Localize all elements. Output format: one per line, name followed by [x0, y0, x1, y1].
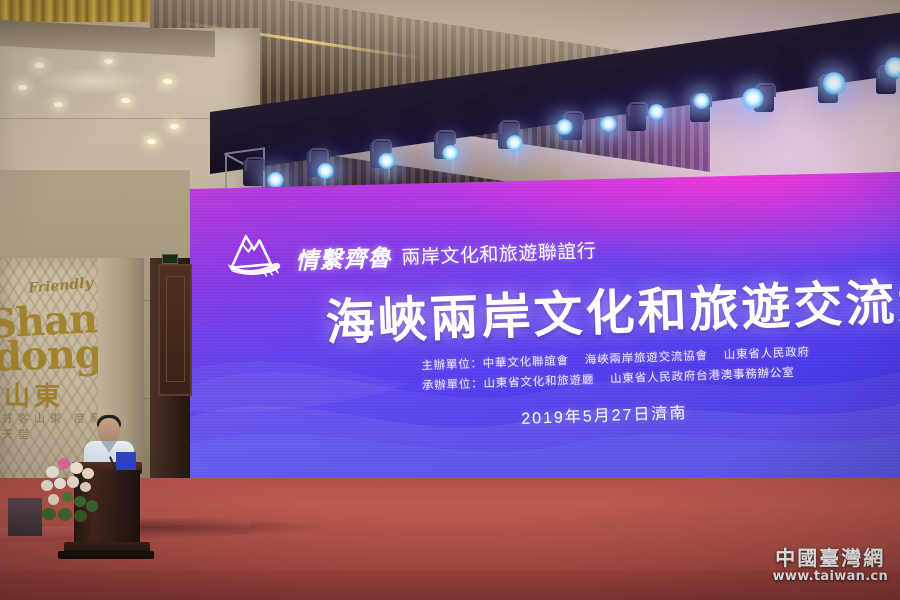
moving-head-spotlight: [626, 105, 646, 131]
host-item-1: 中華文化聯誼會: [483, 355, 569, 370]
spotlight-beam-glow: [317, 163, 334, 180]
stage-photo-scene: 情繫齊魯 兩岸文化和旅遊聯誼行 海峽兩岸文化和旅遊交流大會 主辦單位：中華文化聯…: [0, 0, 900, 600]
downlight: [163, 79, 172, 84]
panel-brand-cn-small: 好客山東 度假天堂: [2, 410, 112, 442]
light-beam: [580, 140, 582, 158]
watermark-site-name: 中國臺灣網: [773, 549, 888, 570]
spotlight-beam-glow: [600, 116, 617, 133]
host-item-3: 山東省人民政府: [724, 347, 810, 362]
coordinator-item-2: 山東省人民政府台港澳事務辦公室: [610, 367, 795, 386]
logo-calligraphy-text: 情繫齊魯: [295, 246, 392, 276]
spotlight-beam-glow: [378, 153, 395, 170]
logo-subtitle-text: 兩岸文化和旅遊聯誼行: [401, 242, 597, 273]
panel-brand-cn: 山東: [4, 376, 64, 413]
coordinator-label: 承辦單位：: [422, 378, 484, 392]
host-label: 主辦單位：: [421, 358, 483, 372]
downlight: [104, 59, 113, 64]
organizer-credits: 主辦單位：中華文化聯誼會海峽兩岸旅遊交流協會山東省人民政府 承辦單位：山東省文化…: [421, 343, 811, 397]
downlight: [18, 85, 27, 90]
moving-head-spotlight: [243, 160, 263, 186]
spotlight-beam-glow: [693, 93, 710, 110]
led-screen-content: 情繫齊魯 兩岸文化和旅遊聯誼行 海峽兩岸文化和旅遊交流大會 主辦單位：中華文化聯…: [188, 172, 900, 482]
downlight: [54, 102, 63, 107]
spotlight-beam-glow: [442, 145, 459, 162]
downlight: [35, 63, 44, 68]
panel-brand-line2: dong: [0, 334, 102, 378]
spotlight-beam-glow: [742, 88, 764, 110]
downlight: [121, 98, 130, 103]
event-date-location: 2019年5月27日濟南: [521, 399, 688, 429]
podium-base-lower: [58, 551, 154, 559]
spotlight-beam-glow: [556, 119, 573, 136]
event-logo-lockup: 情繫齊魯 兩岸文化和旅遊聯誼行: [222, 214, 597, 279]
downlight: [170, 124, 179, 129]
led-backdrop-screen: 情繫齊魯 兩岸文化和旅遊聯誼行 海峽兩岸文化和旅遊交流大會 主辦單位：中華文化聯…: [188, 172, 900, 482]
floral-arrangement: [40, 452, 104, 532]
exit-sign: [162, 254, 178, 264]
host-item-2: 海峽兩岸旅遊交流協會: [585, 350, 708, 366]
event-main-title: 海峽兩岸文化和旅遊交流大會: [324, 260, 900, 355]
downlight: [147, 139, 156, 144]
event-city: 濟南: [651, 405, 688, 423]
stage-side-object: [8, 498, 42, 536]
spotlight-beam-glow: [267, 172, 284, 189]
panel-tagline: Friendly: [27, 275, 93, 297]
mountain-river-logo-icon: [222, 225, 286, 279]
spotlight-beam-glow: [884, 57, 900, 79]
site-watermark: 中國臺灣網 www.taiwan.cn: [773, 549, 888, 584]
watermark-site-url: www.taiwan.cn: [773, 570, 888, 584]
ceiling-light-reflection: [38, 68, 148, 94]
spotlight-beam-glow: [506, 135, 523, 152]
light-beam: [388, 168, 390, 186]
spotlight-beam-glow: [822, 72, 846, 96]
stage-front-edge: [0, 570, 900, 600]
spotlight-beam-glow: [648, 104, 665, 121]
hall-door[interactable]: [158, 264, 192, 396]
event-date: 2019年5月27日: [521, 406, 652, 428]
coordinator-item-1: 山東省文化和旅遊廳: [483, 374, 594, 390]
gold-decor-panel: [0, 0, 150, 22]
